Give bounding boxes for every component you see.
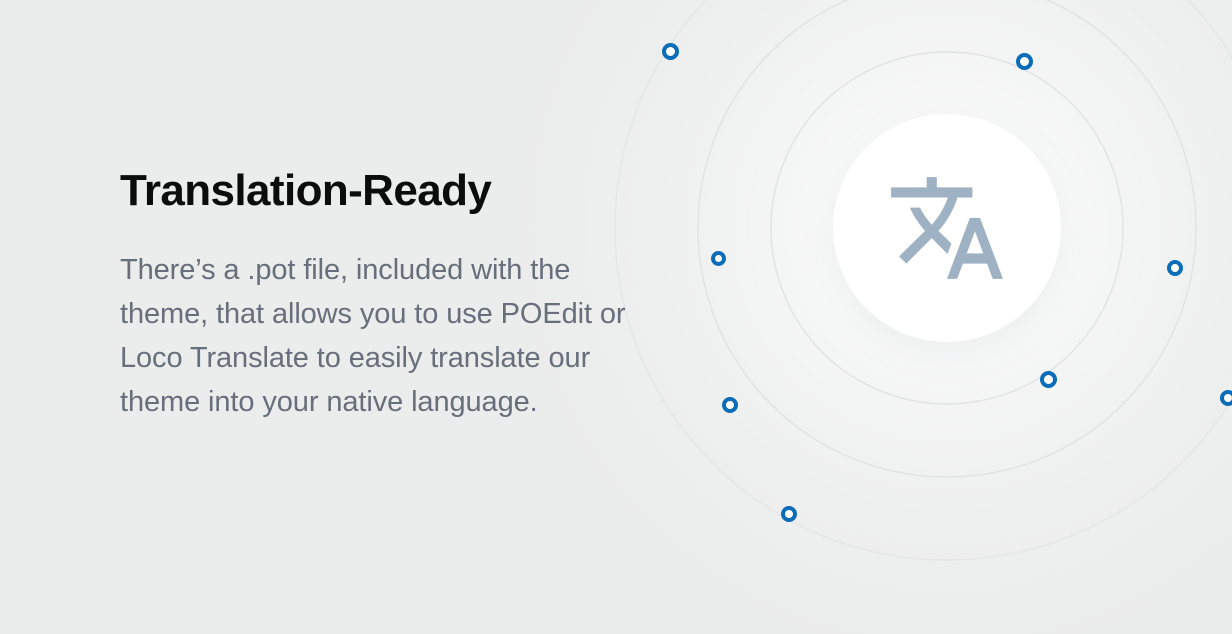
- orbit-dot-top-right: [1016, 53, 1033, 70]
- feature-block: Translation-Ready There’s a .pot file, i…: [0, 0, 1232, 634]
- outer-orbit-ring: [615, 0, 1232, 560]
- orbit-dot-right-edge: [1220, 390, 1232, 406]
- orbit-dot-left-lower: [722, 397, 738, 413]
- orbit-dot-right-upper: [1167, 260, 1183, 276]
- orbit-dot-right-mid: [1040, 371, 1057, 388]
- translate-icon: [886, 167, 1008, 289]
- copy-column: Translation-Ready There’s a .pot file, i…: [120, 164, 640, 424]
- translate-icon-disc: [833, 114, 1061, 342]
- inner-orbit-ring: [771, 52, 1123, 404]
- body-paragraph: There’s a .pot file, included with the t…: [120, 248, 630, 424]
- middle-orbit-ring: [698, 0, 1196, 477]
- orbit-dot-left-upper: [711, 251, 726, 266]
- orbit-dot-top-left: [662, 43, 679, 60]
- orbit-dot-bottom: [781, 506, 797, 522]
- page-title: Translation-Ready: [120, 164, 640, 218]
